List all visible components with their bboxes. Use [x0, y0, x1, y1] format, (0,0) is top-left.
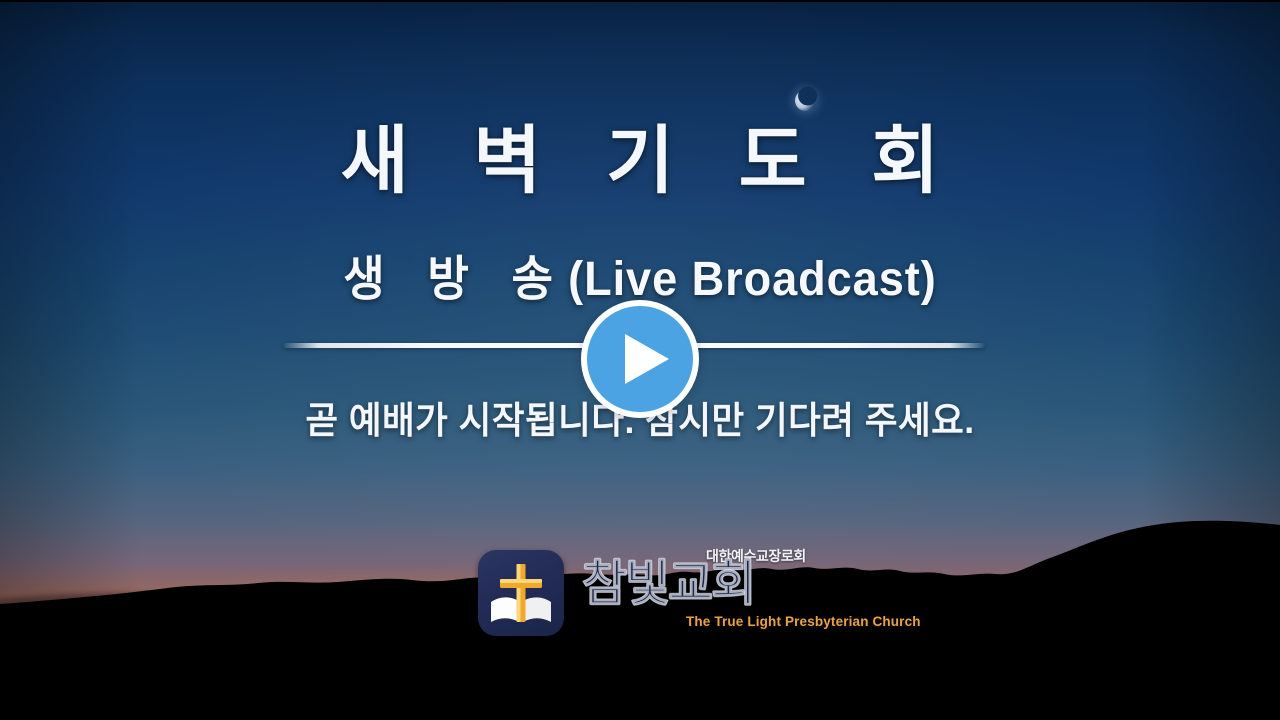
- play-triangle-icon: [625, 334, 669, 384]
- broadcast-subtitle: 생 방 송(Live Broadcast): [38, 256, 1241, 304]
- cross-over-open-bible-icon: [478, 550, 564, 636]
- church-name: 참빛교회: [582, 560, 754, 609]
- page-title: 새 벽 기 도 회: [0, 124, 1280, 198]
- play-button[interactable]: [581, 300, 699, 418]
- church-tagline: The True Light Presbyterian Church: [686, 614, 921, 629]
- subtitle-english: (Live Broadcast): [568, 253, 937, 306]
- subtitle-korean: 생 방 송: [343, 253, 568, 306]
- church-logo: 대한예수교장로회 참빛교회 The True Light Presbyteria…: [478, 546, 814, 642]
- broadcast-overlay: 새 벽 기 도 회 생 방 송(Live Broadcast) 곧 예배가 시작…: [0, 0, 1280, 720]
- letterbox-top: [0, 0, 1280, 2]
- church-logo-text: 대한예수교장로회 참빛교회 The True Light Presbyteria…: [578, 546, 814, 642]
- video-player-stage: 새 벽 기 도 회 생 방 송(Live Broadcast) 곧 예배가 시작…: [0, 0, 1280, 720]
